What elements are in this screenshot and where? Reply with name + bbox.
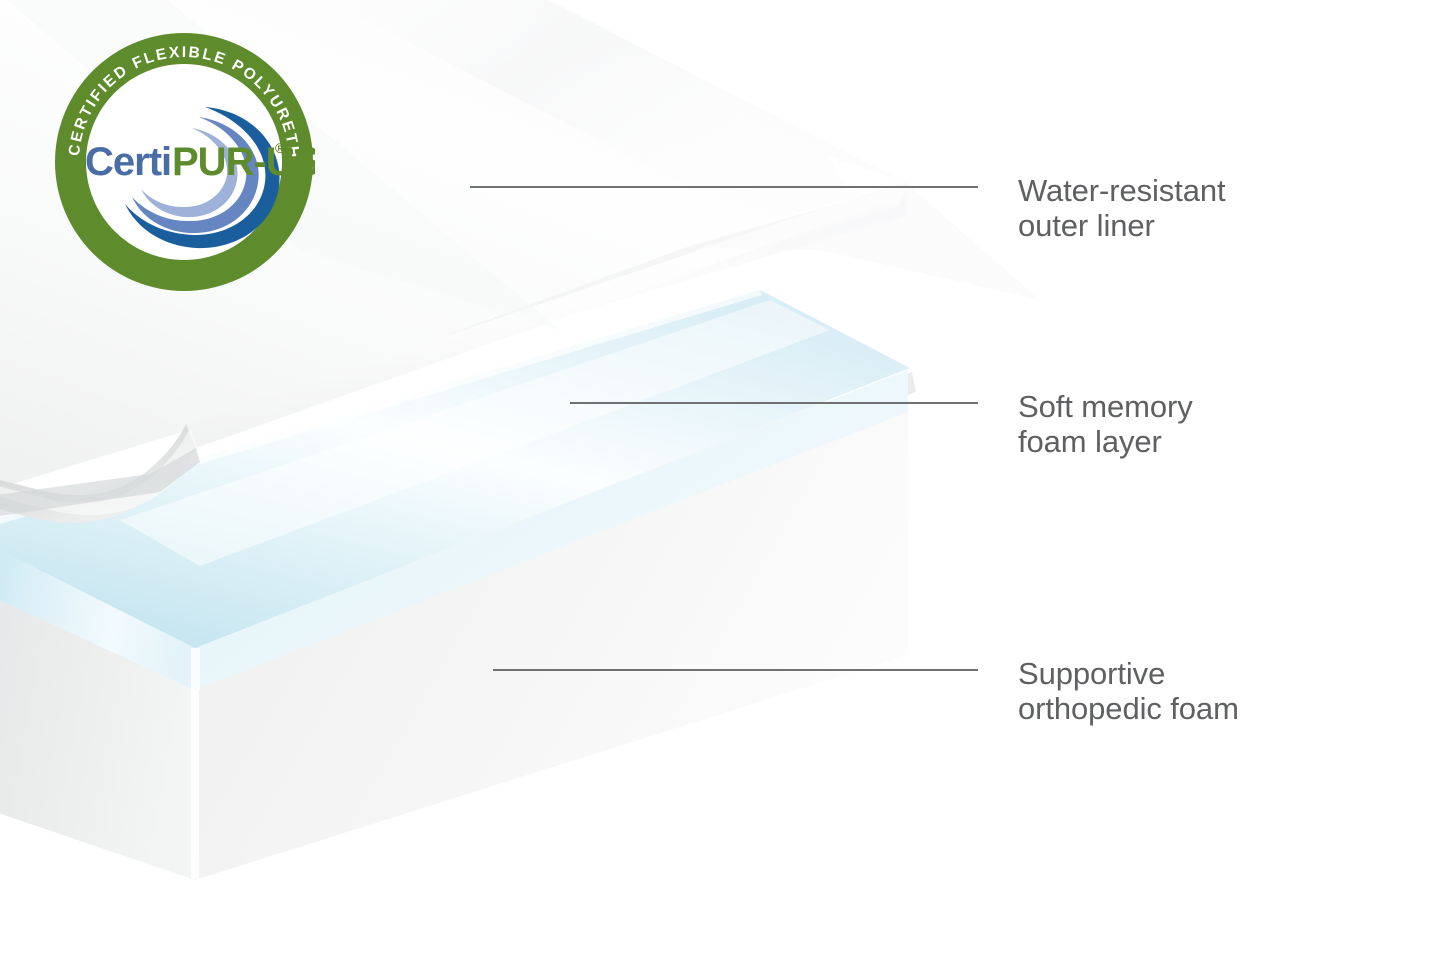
callout-label-water-resistant-outer-liner: Water-resistant outer liner [1018, 174, 1226, 243]
badge-wordmark-certi: Certi [85, 140, 171, 184]
infographic-canvas: CONTAINS CERTIFIED FLEXIBLE POLYURETHANE… [0, 0, 1445, 964]
callout-label-soft-memory-foam-layer: Soft memory foam layer [1018, 390, 1193, 459]
certipur-us-badge: CONTAINS CERTIFIED FLEXIBLE POLYURETHANE… [53, 31, 315, 293]
callout-label-supportive-orthopedic-foam: Supportive orthopedic foam [1018, 657, 1239, 726]
badge-wordmark: Certi PUR-US ® [85, 140, 315, 184]
badge-registered-mark: ® [275, 140, 286, 156]
badge-wordmark-pur-us: PUR-US [172, 140, 315, 184]
